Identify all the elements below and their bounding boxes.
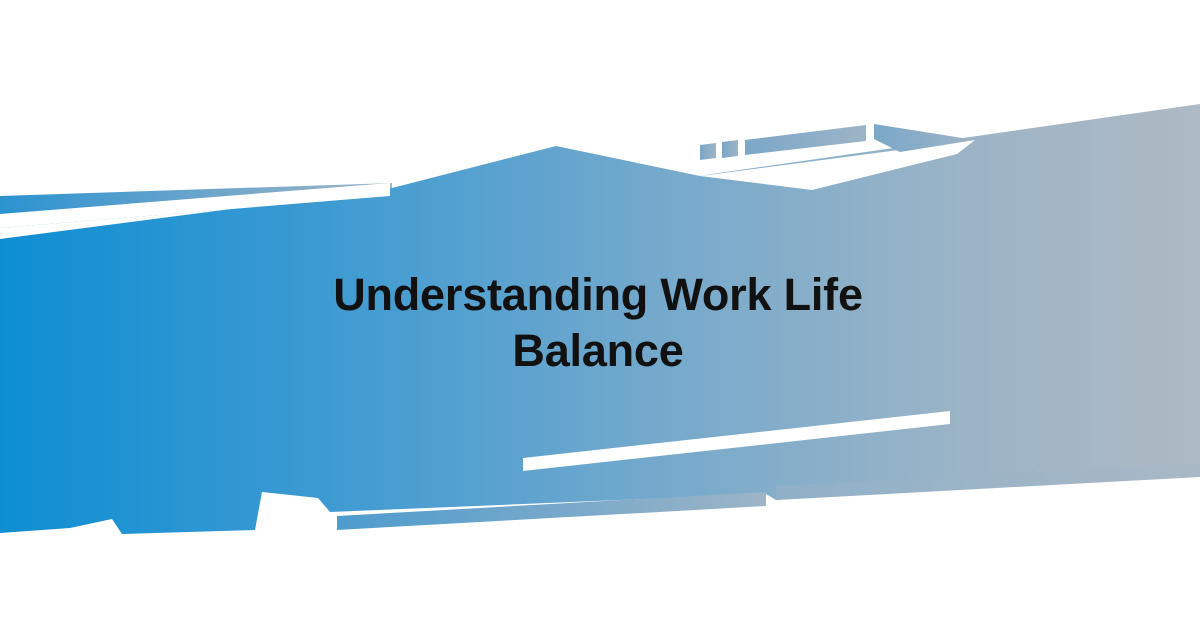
dot-small-2-shape [722, 140, 738, 158]
decorative-banner-graphic [0, 0, 1200, 630]
dot-small-1-shape [700, 143, 716, 160]
main-band-shape [0, 104, 1200, 534]
banner-root: Understanding Work Life Balance [0, 0, 1200, 630]
dash-medium-shape [745, 125, 866, 155]
